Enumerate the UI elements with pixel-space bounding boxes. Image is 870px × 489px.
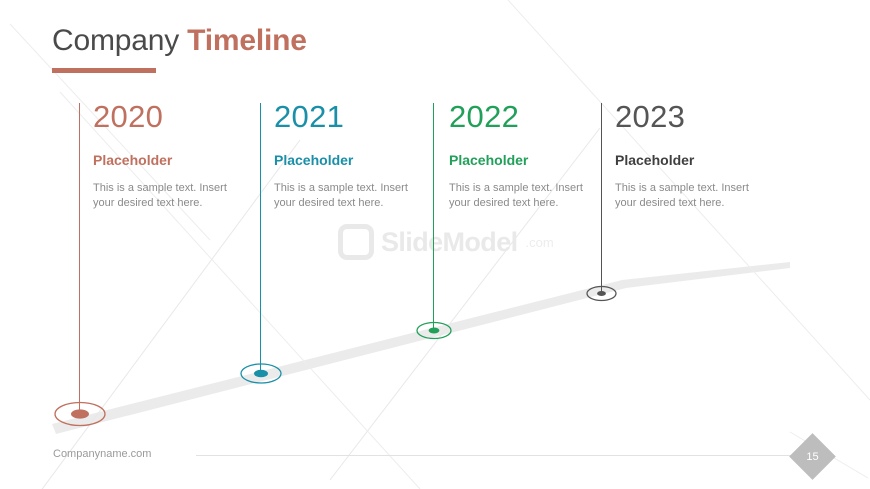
timeline-node-dot	[597, 291, 606, 296]
milestone-body: This is a sample text. Insert your desir…	[274, 181, 410, 210]
page-title-accent: Timeline	[187, 24, 307, 57]
page-title-plain: Company	[52, 24, 179, 57]
milestone-year: 2022	[449, 101, 585, 132]
milestone-2022: 2022 Placeholder This is a sample text. …	[449, 101, 585, 210]
watermark-brand: SlideModel	[381, 227, 518, 258]
footer-company-name: Companyname.com	[53, 448, 151, 460]
title-block: Company Timeline	[52, 24, 307, 73]
milestone-2020: 2020 Placeholder This is a sample text. …	[93, 101, 229, 210]
milestone-2021: 2021 Placeholder This is a sample text. …	[274, 101, 410, 210]
timeline-node-dot	[71, 409, 89, 418]
milestone-year: 2021	[274, 101, 410, 132]
timeline-marker-2020[interactable]	[52, 398, 108, 430]
milestone-year: 2023	[615, 101, 751, 132]
title-underline	[52, 68, 156, 73]
timeline-stem-2022	[433, 103, 434, 330]
slide-canvas: Company Timeline SlideModel .com 2020 Pl…	[0, 0, 870, 489]
milestone-heading: Placeholder	[93, 153, 229, 167]
page-number-label: 15	[796, 440, 829, 473]
milestone-year: 2020	[93, 101, 229, 132]
timeline-stem-2023	[601, 103, 602, 293]
milestone-heading: Placeholder	[615, 153, 751, 167]
rounded-square-logo-icon	[338, 224, 374, 260]
timeline-marker-2021[interactable]	[238, 360, 284, 387]
milestone-heading: Placeholder	[274, 153, 410, 167]
milestone-body: This is a sample text. Insert your desir…	[449, 181, 585, 210]
footer-divider	[196, 455, 796, 456]
page-title: Company Timeline	[52, 24, 307, 57]
watermark-tld: .com	[526, 235, 554, 250]
slidemodel-watermark: SlideModel .com	[338, 224, 554, 260]
milestone-body: This is a sample text. Insert your desir…	[93, 181, 229, 210]
timeline-stem-2021	[260, 103, 261, 373]
milestone-heading: Placeholder	[449, 153, 585, 167]
road-band	[52, 262, 790, 434]
timeline-marker-2023[interactable]	[584, 283, 619, 304]
timeline-marker-2022[interactable]	[414, 319, 454, 342]
timeline-node-dot	[254, 370, 268, 378]
milestone-body: This is a sample text. Insert your desir…	[615, 181, 751, 210]
milestone-2023: 2023 Placeholder This is a sample text. …	[615, 101, 751, 210]
timeline-stem-2020	[79, 103, 80, 413]
background-decoration	[0, 0, 870, 489]
timeline-node-dot	[429, 328, 440, 334]
